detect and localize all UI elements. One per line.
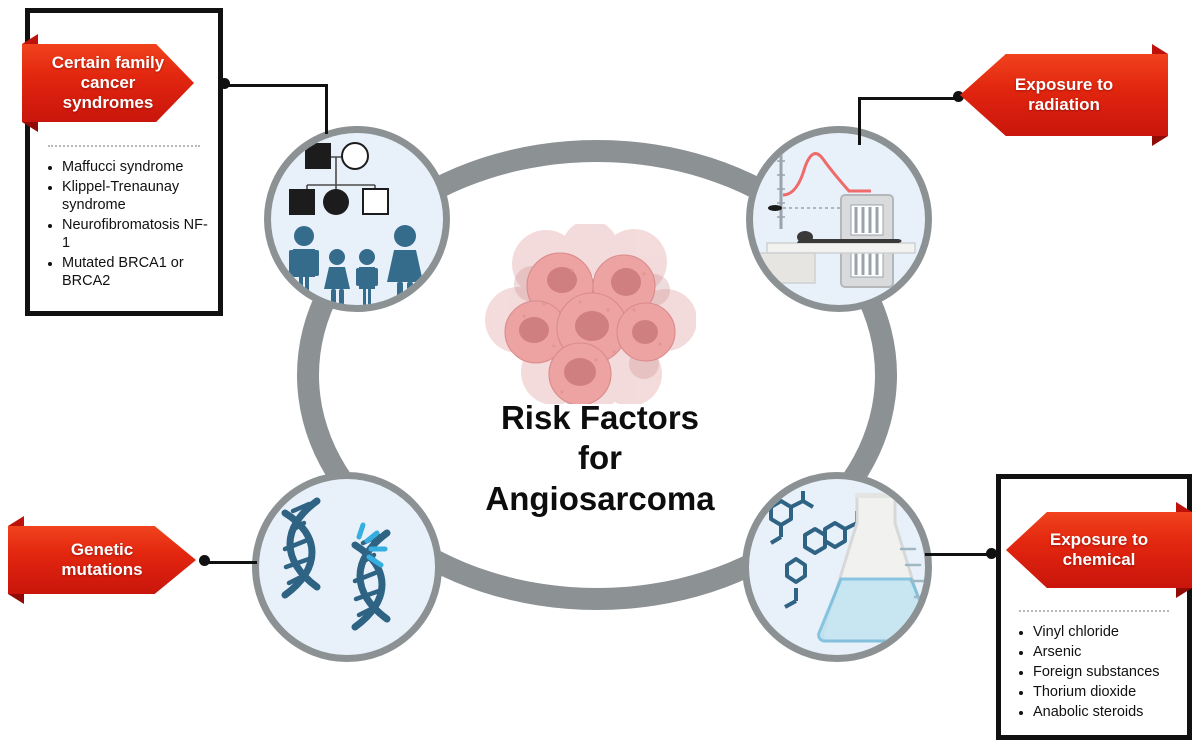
panel-divider-chemical: [1019, 610, 1169, 612]
node-chemical-exposure[interactable]: [742, 472, 932, 662]
list-item: Arsenic: [1017, 644, 1179, 662]
connector-dot-chemical: [986, 548, 997, 559]
risk-factors-infographic: Risk Factors for Angiosarcoma: [0, 0, 1200, 746]
list-item: Klippel-Trenaunay syndrome: [46, 179, 210, 215]
ribbon-line-2: chemical: [1050, 550, 1148, 570]
ribbon-genetic-mutations[interactable]: Genetic mutations: [8, 526, 196, 594]
ribbon-line-1: Exposure to: [1015, 75, 1113, 95]
ribbon-line-2: radiation: [1015, 95, 1113, 115]
ribbon-line-3: syndromes: [52, 93, 164, 113]
list-item: Neurofibromatosis NF-1: [46, 217, 210, 253]
radiotherapy-scanner-icon: [753, 133, 925, 305]
list-item: Foreign substances: [1017, 664, 1179, 682]
node-family-cancer-syndromes[interactable]: [264, 126, 450, 312]
panel-divider-family: [48, 145, 200, 147]
list-item: Vinyl chloride: [1017, 624, 1179, 642]
list-item: Thorium dioxide: [1017, 684, 1179, 702]
title-line-1: Risk Factors: [430, 398, 770, 438]
ribbon-line-1: Exposure to: [1050, 530, 1148, 550]
family-pedigree-icon: [271, 133, 443, 305]
connector-family-horizontal: [225, 84, 328, 87]
node-genetic-mutations[interactable]: [252, 472, 442, 662]
ribbon-line-1: Certain family: [52, 53, 164, 73]
title-line-2: for: [430, 438, 770, 478]
list-item: Maffucci syndrome: [46, 159, 210, 177]
connector-family-vertical: [325, 84, 328, 134]
list-family-syndromes: Maffucci syndrome Klippel-Trenaunay synd…: [46, 159, 210, 293]
ribbon-line-2: cancer: [52, 73, 164, 93]
connector-dot-genetic: [199, 555, 210, 566]
list-item: Mutated BRCA1 or BRCA2: [46, 255, 210, 291]
dna-helix-break-icon: [259, 479, 435, 655]
connector-radiation-horizontal: [858, 97, 961, 100]
ribbon-line-2: mutations: [61, 560, 142, 580]
ribbon-exposure-to-radiation[interactable]: Exposure to radiation: [960, 54, 1168, 136]
flask-molecules-icon: [749, 479, 925, 655]
connector-genetic-horizontal: [205, 561, 257, 564]
ribbon-line-1: Genetic: [61, 540, 142, 560]
list-chemical-substances: Vinyl chloride Arsenic Foreign substance…: [1017, 624, 1179, 724]
node-radiation-exposure[interactable]: [746, 126, 932, 312]
tumor-cell-cluster-icon: [484, 224, 696, 404]
connector-dot-family: [219, 78, 230, 89]
title-line-3: Angiosarcoma: [430, 479, 770, 519]
connector-radiation-vertical: [858, 97, 861, 145]
page-title: Risk Factors for Angiosarcoma: [430, 398, 770, 519]
list-item: Anabolic steroids: [1017, 704, 1179, 722]
